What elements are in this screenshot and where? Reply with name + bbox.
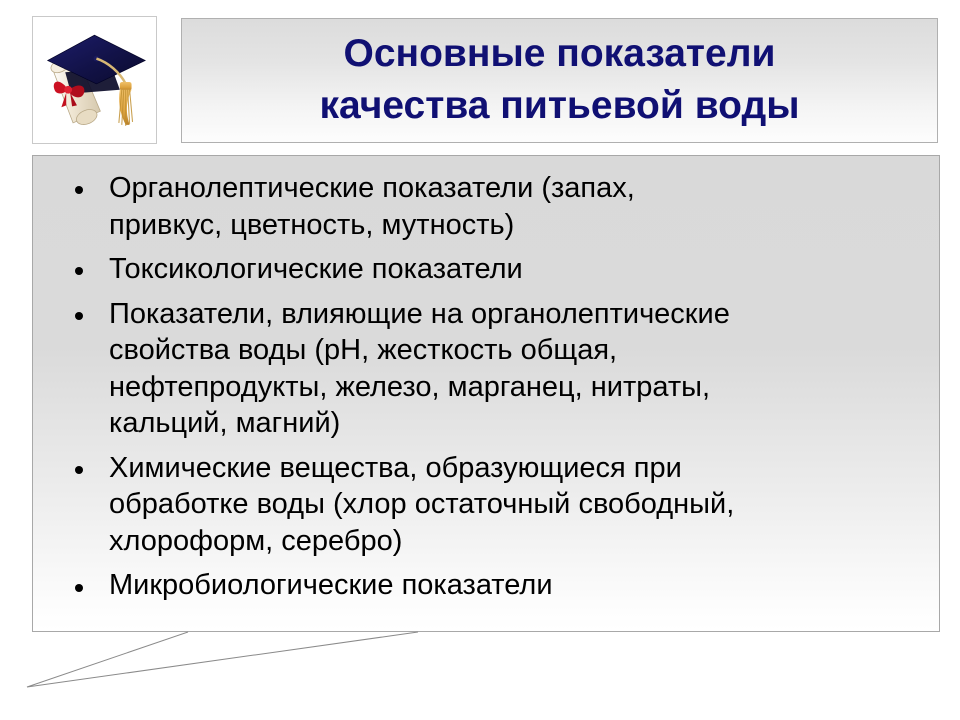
title-line-1: Основные показатели [190, 28, 929, 80]
bullet-list: Органолептические показатели (запах, при… [51, 170, 921, 604]
bullet-dot-icon [75, 312, 83, 320]
list-item: Органолептические показатели (запах, при… [51, 170, 921, 243]
list-item-text: Химические вещества, образующиеся при об… [109, 450, 921, 560]
slide-title-box: Основные показатели качества питьевой во… [181, 18, 938, 143]
bullet-dot-icon [75, 267, 83, 275]
page-title: Основные показатели качества питьевой во… [182, 28, 937, 134]
list-item-line: Химические вещества, образующиеся при [109, 450, 921, 487]
title-line-2: качества питьевой воды [190, 80, 929, 132]
list-item: Микробиологические показатели [51, 567, 921, 604]
list-item-line: нефтепродукты, железо, марганец, нитраты… [109, 369, 921, 406]
list-item-line: Микробиологические показатели [109, 567, 921, 604]
list-item-line: хлороформ, серебро) [109, 523, 921, 560]
content-box: Органолептические показатели (запах, при… [32, 155, 940, 632]
slide-root: Основные показатели качества питьевой во… [0, 0, 960, 720]
list-item-line: кальций, магний) [109, 405, 921, 442]
bullet-dot-icon [75, 186, 83, 194]
list-item: Показатели, влияющие на органолептически… [51, 296, 921, 442]
list-item-text: Показатели, влияющие на органолептически… [109, 296, 921, 442]
graduation-cap-icon [36, 20, 153, 140]
callout-tail-lines [27, 632, 418, 687]
list-item-text: Микробиологические показатели [109, 567, 921, 604]
graduation-cap-diploma-image [36, 20, 153, 140]
bullet-dot-icon [75, 584, 83, 592]
list-item-line: обработке воды (хлор остаточный свободны… [109, 486, 921, 523]
bullet-dot-icon [75, 466, 83, 474]
list-item-text: Токсикологические показатели [109, 251, 921, 288]
list-item: Химические вещества, образующиеся при об… [51, 450, 921, 560]
header-image-frame [32, 16, 157, 144]
list-item-line: свойства воды (pH, жесткость общая, [109, 332, 921, 369]
list-item-line: Показатели, влияющие на органолептически… [109, 296, 921, 333]
list-item-line: Токсикологические показатели [109, 251, 921, 288]
list-item: Токсикологические показатели [51, 251, 921, 288]
list-item-text: Органолептические показатели (запах, при… [109, 170, 921, 243]
list-item-line: привкус, цветность, мутность) [109, 207, 921, 244]
list-item-line: Органолептические показатели (запах, [109, 170, 921, 207]
